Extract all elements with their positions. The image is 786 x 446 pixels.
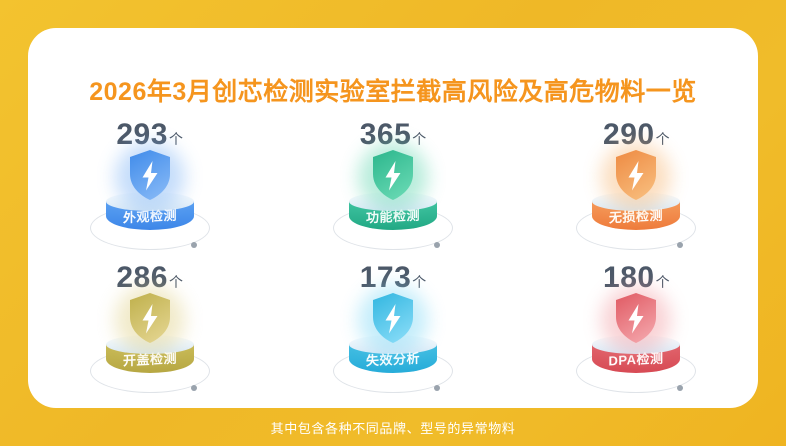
- stat-unit: 个: [169, 274, 183, 290]
- stat-unit: 个: [169, 131, 183, 147]
- base-ring-dot: [434, 242, 440, 248]
- stat-card-DPA检测[interactable]: 180个 DPA检测: [515, 263, 758, 406]
- shield-bolt-icon: [127, 291, 173, 345]
- page-title: 2026年3月创芯检测实验室拦截高风险及高危物料一览: [28, 72, 758, 108]
- stat-card-开盖检测[interactable]: 286个 开盖检测: [28, 263, 271, 406]
- base-ring-dot: [434, 385, 440, 391]
- shield-bolt-svg: [370, 148, 416, 202]
- shield-bolt-icon: [613, 148, 659, 202]
- stat-card-外观检测[interactable]: 293个 外观检测: [28, 120, 271, 263]
- stats-grid: 293个 外观检测 365个: [28, 120, 758, 406]
- shield-bolt-svg: [370, 291, 416, 345]
- shield-bolt-svg: [613, 291, 659, 345]
- base-ring-dot: [677, 385, 683, 391]
- stat-figure: 失效分析: [327, 291, 459, 401]
- base-ring-dot: [677, 242, 683, 248]
- shield-bolt-icon: [370, 148, 416, 202]
- poster-root: 2026年3月创芯检测实验室拦截高风险及高危物料一览 293个 外观检测: [0, 0, 786, 446]
- stat-unit: 个: [412, 274, 426, 290]
- base-ring-dot: [191, 242, 197, 248]
- stat-unit: 个: [412, 131, 426, 147]
- stat-figure: 功能检测: [327, 148, 459, 258]
- footer-note: 其中包含各种不同品牌、型号的异常物料: [0, 418, 786, 437]
- stat-card-失效分析[interactable]: 173个 失效分析: [271, 263, 514, 406]
- stat-card-无损检测[interactable]: 290个 无损检测: [515, 120, 758, 263]
- shield-bolt-icon: [613, 291, 659, 345]
- shield-bolt-icon: [127, 148, 173, 202]
- content-panel: 2026年3月创芯检测实验室拦截高风险及高危物料一览 293个 外观检测: [28, 28, 758, 408]
- stat-figure: 开盖检测: [84, 291, 216, 401]
- stat-figure: 无损检测: [570, 148, 702, 258]
- shield-bolt-svg: [613, 148, 659, 202]
- stat-figure: DPA检测: [570, 291, 702, 401]
- base-ring-dot: [191, 385, 197, 391]
- stat-figure: 外观检测: [84, 148, 216, 258]
- stat-card-功能检测[interactable]: 365个 功能检测: [271, 120, 514, 263]
- shield-bolt-icon: [370, 291, 416, 345]
- stat-unit: 个: [656, 131, 670, 147]
- shield-bolt-svg: [127, 148, 173, 202]
- shield-bolt-svg: [127, 291, 173, 345]
- stat-unit: 个: [656, 274, 670, 290]
